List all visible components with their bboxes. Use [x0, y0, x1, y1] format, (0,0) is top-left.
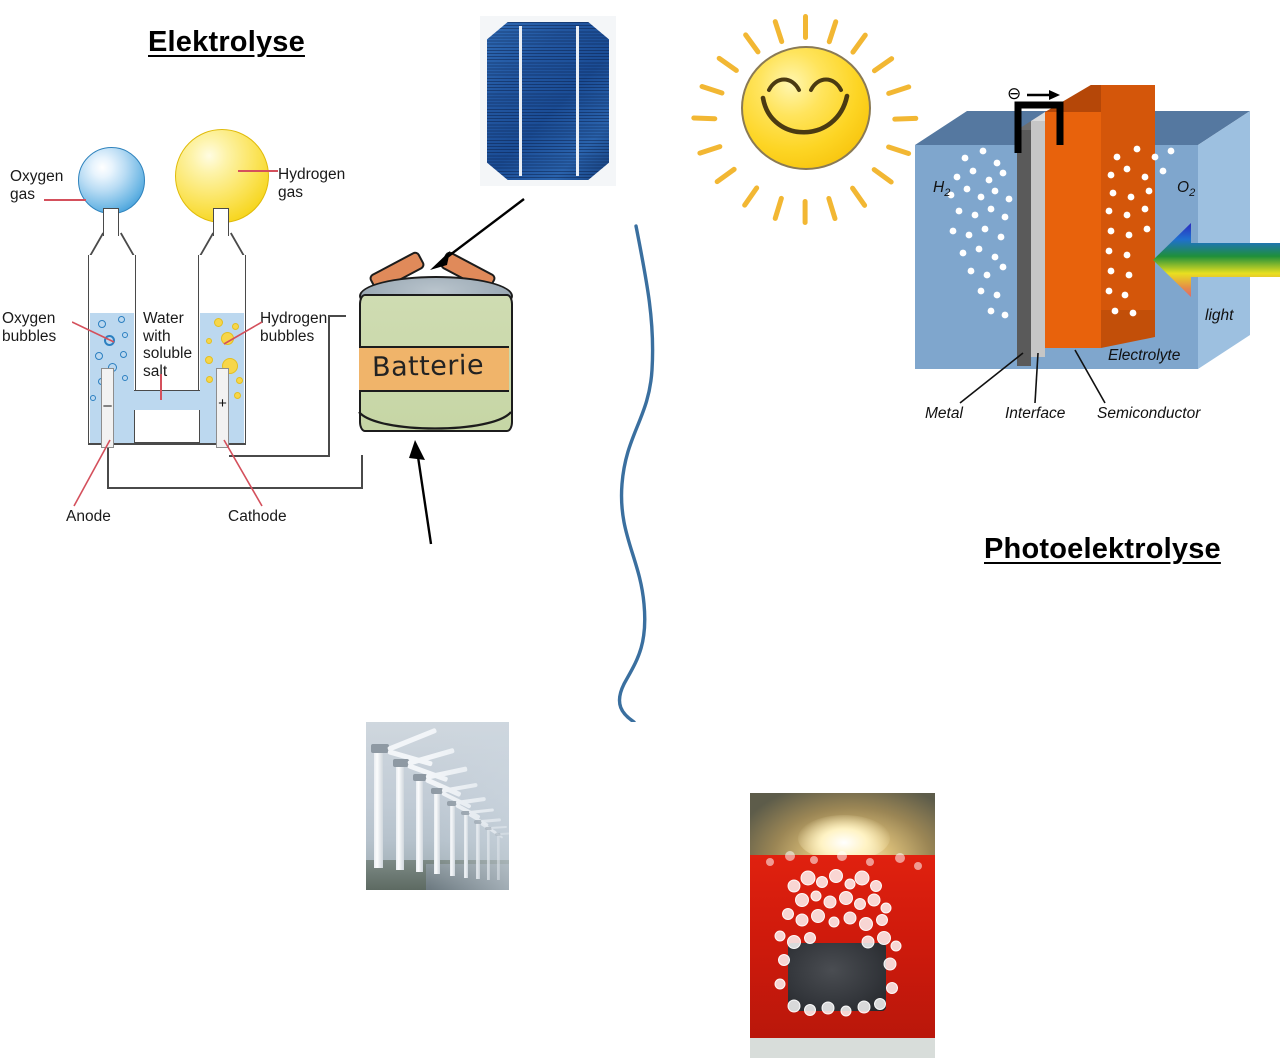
label-metal: Metal — [925, 405, 963, 423]
arrow-wind-to-battery — [405, 438, 445, 548]
sun-smiley — [700, 8, 910, 203]
wavy-divider — [600, 222, 680, 722]
wind-turbines-photo — [366, 722, 509, 890]
label-anode: Anode — [66, 508, 111, 526]
electrode-photo-bottom — [750, 1038, 935, 1058]
slide-canvas: Elektrolyse Photoelektrolyse Oxygen gas … — [0, 0, 1280, 720]
wire-anode-riser — [361, 455, 363, 489]
oxygen-bubble — [118, 316, 125, 323]
label-semiconductor: Semiconductor — [1097, 405, 1200, 423]
leader-anode — [72, 438, 116, 508]
wind-photo-haze — [366, 722, 509, 890]
oxygen-bubble — [120, 351, 127, 358]
leader-cathode — [218, 438, 264, 508]
label-oxygen-bubbles: Oxygen bubbles — [2, 310, 80, 345]
anode-sign: – — [101, 398, 114, 413]
oxygen-bubble — [122, 332, 128, 338]
label-oxygen-gas: Oxygen gas — [10, 168, 72, 203]
electrode-bubbles — [750, 848, 935, 1038]
oxygen-bubble — [90, 395, 96, 401]
page-title-elektrolyse: Elektrolyse — [148, 26, 305, 59]
cathode-sign: + — [216, 396, 229, 411]
battery-bottom-curve — [357, 410, 513, 438]
battery-illustration: Batterie — [340, 250, 540, 450]
leader-hydrogen-gas — [238, 170, 278, 172]
label-hydrogen-gas: Hydrogen gas — [278, 166, 358, 201]
u-bridge-liquid-upper — [134, 392, 200, 410]
component-pointers — [905, 85, 1280, 430]
solar-cell-busbar-right — [576, 26, 579, 176]
oxygen-bubble — [95, 352, 103, 360]
hydrogen-bubble — [236, 377, 243, 384]
battery-label-text: Batterie — [372, 350, 485, 383]
arrow-solar-to-battery — [420, 195, 530, 275]
page-title-photoelektrolyse: Photoelektrolyse — [984, 533, 1221, 566]
u-bridge-lower — [134, 410, 200, 443]
leader-oxygen-gas — [44, 199, 86, 201]
label-water-with-soluble-salt: Water with soluble salt — [143, 310, 209, 380]
photoelectrolysis-diagram: ⊖ — [905, 85, 1280, 430]
oxygen-bubble — [122, 375, 128, 381]
leader-water-salt — [160, 374, 162, 400]
hydrogen-bubble — [234, 392, 241, 399]
solar-cell-busbar-left — [519, 26, 522, 176]
leader-hydrogen-bubbles — [222, 320, 264, 346]
sun-face — [741, 46, 867, 166]
solar-cell-photo — [480, 16, 616, 186]
solar-cell-fingers — [487, 22, 609, 180]
label-interface: Interface — [1005, 405, 1065, 423]
label-cathode: Cathode — [228, 508, 287, 526]
leader-oxygen-bubbles — [72, 320, 116, 344]
oxygen-gas-sphere — [78, 147, 145, 214]
red-photoelectrode-photo — [750, 793, 935, 1058]
label-hydrogen-bubbles: Hydrogen bubbles — [260, 310, 344, 345]
